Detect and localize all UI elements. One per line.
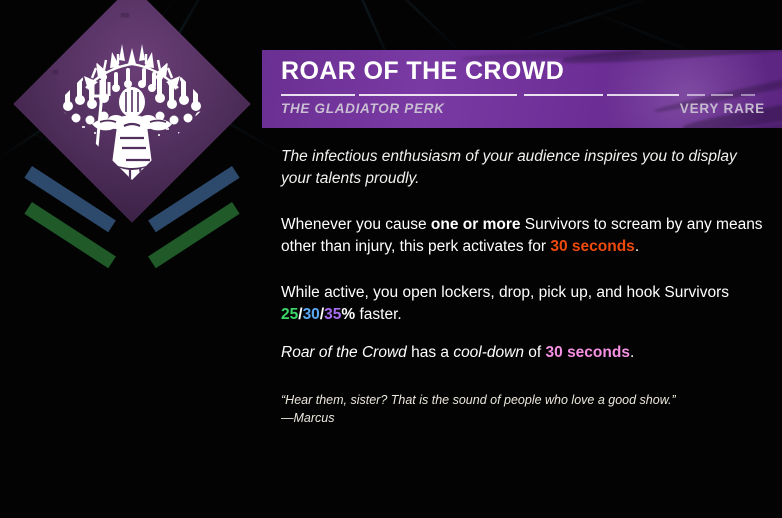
cooldown-duration: 30 seconds <box>546 344 630 361</box>
effect2-post: faster. <box>355 306 402 323</box>
quote-attribution: —Marcus <box>281 409 765 427</box>
effect1-pre: Whenever you cause <box>281 216 431 233</box>
tier2-value: 30 <box>303 306 320 323</box>
gladiator-crowd-art <box>46 18 218 190</box>
perk-effect-activation: Whenever you cause one or more Survivors… <box>281 214 765 258</box>
background-streak <box>504 0 676 46</box>
effect1-bold: one or more <box>431 216 521 233</box>
cooldown-perk-name: Roar of the Crowd <box>281 344 407 361</box>
quote-text: “Hear them, sister? That is the sound of… <box>281 391 765 409</box>
perk-character-label: THE GLADIATOR PERK <box>281 101 445 116</box>
cooldown-term: cool-down <box>453 344 524 361</box>
perk-rarity-badge: VERY RARE <box>680 101 765 116</box>
percent-sign: % <box>341 306 355 323</box>
perk-flavor-text: The infectious enthusiasm of your audien… <box>281 146 765 190</box>
effect1-duration: 30 seconds <box>550 238 634 255</box>
tier1-value: 25 <box>281 306 298 323</box>
cooldown-mid1: has a <box>407 344 454 361</box>
title-divider <box>281 94 763 96</box>
perk-header: ROAR OF THE CROWD THE GLADIATOR PERK VER… <box>262 50 782 128</box>
perk-quote: “Hear them, sister? That is the sound of… <box>281 391 765 427</box>
tier3-value: 35 <box>324 306 341 323</box>
page-title: ROAR OF THE CROWD <box>281 57 564 86</box>
perk-icon[interactable] <box>14 14 250 290</box>
cooldown-mid2: of <box>524 344 546 361</box>
cooldown-post: . <box>630 344 634 361</box>
perk-effect-speed: While active, you open lockers, drop, pi… <box>281 282 765 326</box>
perk-cooldown-text: Roar of the Crowd has a cool-down of 30 … <box>281 342 765 364</box>
effect2-pre: While active, you open lockers, drop, pi… <box>281 284 729 301</box>
background-streak <box>376 0 464 55</box>
perk-description-panel: The infectious enthusiasm of your audien… <box>262 128 782 458</box>
effect1-post: . <box>635 238 639 255</box>
